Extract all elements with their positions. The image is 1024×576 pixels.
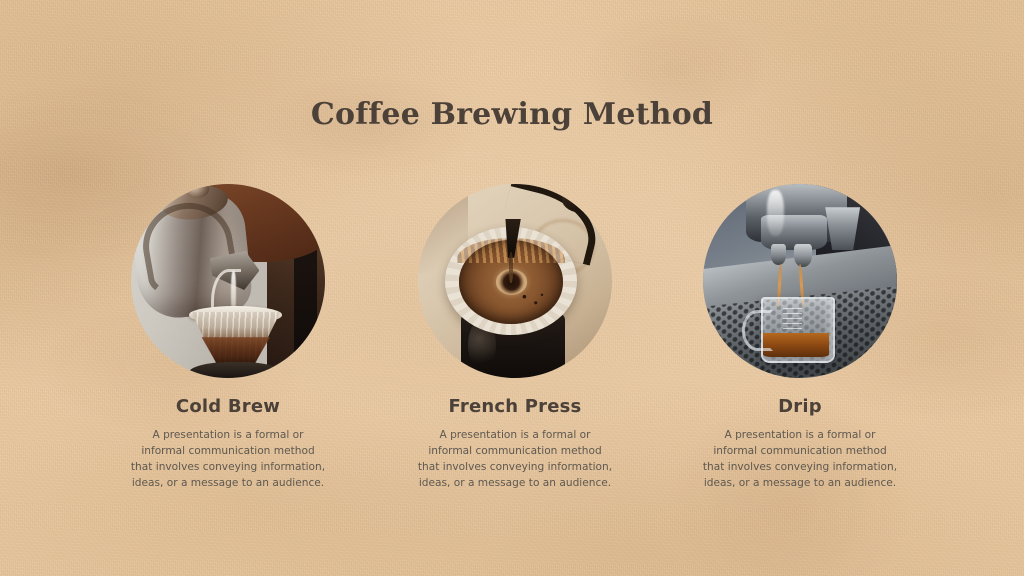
- page-title: Coffee Brewing Method: [0, 97, 1024, 132]
- method-description: A presentation is a formal or informal c…: [417, 427, 613, 491]
- method-heading: French Press: [365, 396, 665, 417]
- method-heading: Drip: [650, 396, 950, 417]
- photo2-kettle-body: [562, 186, 605, 213]
- photo3-espresso-liquid: [763, 333, 829, 356]
- photo2-bubbles: [519, 291, 546, 310]
- espresso-machine-photo: [703, 184, 897, 378]
- slide-canvas: Coffee Brewing Method: [0, 0, 1024, 576]
- method-image-drip: [703, 184, 897, 378]
- pour-over-kettle-photo: [131, 184, 325, 378]
- photo1-dripper-base: [189, 362, 282, 378]
- method-image-french-press: [418, 184, 612, 378]
- method-description: A presentation is a formal or informal c…: [130, 427, 326, 491]
- photo2-pour-stream: [509, 252, 513, 283]
- photo3-spout-right: [794, 244, 811, 267]
- photo3-cup-handle: [742, 310, 773, 351]
- photo1-kettle-knob: [185, 184, 208, 198]
- method-heading: Cold Brew: [78, 396, 378, 417]
- photo3-metal-highlight: [767, 190, 784, 237]
- methods-row: Cold Brew A presentation is a formal or …: [0, 0, 1024, 576]
- method-image-cold-brew: [131, 184, 325, 378]
- method-description: A presentation is a formal or informal c…: [702, 427, 898, 491]
- coffee-bloom-photo: [418, 184, 612, 378]
